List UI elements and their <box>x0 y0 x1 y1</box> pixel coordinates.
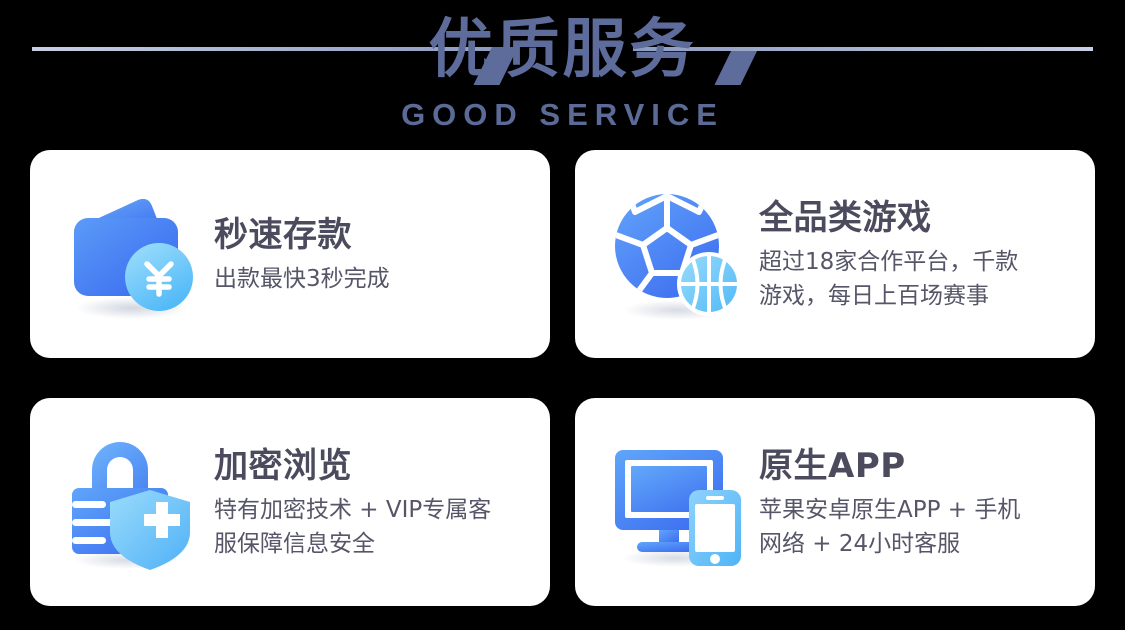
service-card-games[interactable]: 全品类游戏 超过18家合作平台，千款 游戏，每日上百场赛事 <box>575 150 1095 358</box>
service-card-encryption[interactable]: 加密浏览 特有加密技术 + VIP专属客 服保障信息安全 <box>30 398 550 606</box>
card-subtitle-line: 超过18家合作平台，千款 <box>759 245 1083 279</box>
card-subtitle: 苹果安卓原生APP + 手机 网络 + 24小时客服 <box>759 493 1083 561</box>
card-subtitle-line: 服保障信息安全 <box>214 527 538 561</box>
card-subtitle: 出款最快3秒完成 <box>214 262 538 296</box>
card-title: 全品类游戏 <box>759 196 1083 240</box>
card-subtitle-line: 苹果安卓原生APP + 手机 <box>759 493 1083 527</box>
monitor-phone-icon <box>605 428 753 576</box>
card-subtitle: 特有加密技术 + VIP专属客 服保障信息安全 <box>214 493 538 561</box>
card-subtitle-line: 特有加密技术 + VIP专属客 <box>214 493 538 527</box>
card-text-block: 全品类游戏 超过18家合作平台，千款 游戏，每日上百场赛事 <box>753 196 1095 313</box>
page-header: 优质服务 GOOD SERVICE <box>0 0 1125 140</box>
soccer-basketball-icon <box>605 180 753 328</box>
wallet-yen-icon <box>60 180 208 328</box>
page-title: 优质服务 <box>0 8 1125 92</box>
card-subtitle-line: 网络 + 24小时客服 <box>759 527 1083 561</box>
page-subtitle: GOOD SERVICE <box>0 96 1125 134</box>
card-subtitle: 超过18家合作平台，千款 游戏，每日上百场赛事 <box>759 245 1083 313</box>
card-text-block: 加密浏览 特有加密技术 + VIP专属客 服保障信息安全 <box>208 444 550 561</box>
card-title: 原生APP <box>759 444 1083 488</box>
card-text-block: 秒速存款 出款最快3秒完成 <box>208 213 550 296</box>
service-card-deposit[interactable]: 秒速存款 出款最快3秒完成 <box>30 150 550 358</box>
card-subtitle-line: 出款最快3秒完成 <box>214 262 538 296</box>
card-title: 秒速存款 <box>214 213 538 257</box>
card-title: 加密浏览 <box>214 444 538 488</box>
service-card-native-app[interactable]: 原生APP 苹果安卓原生APP + 手机 网络 + 24小时客服 <box>575 398 1095 606</box>
card-subtitle-line: 游戏，每日上百场赛事 <box>759 279 1083 313</box>
lock-shield-icon <box>60 428 208 576</box>
card-text-block: 原生APP 苹果安卓原生APP + 手机 网络 + 24小时客服 <box>753 444 1095 561</box>
service-card-grid: 秒速存款 出款最快3秒完成 <box>30 150 1095 608</box>
